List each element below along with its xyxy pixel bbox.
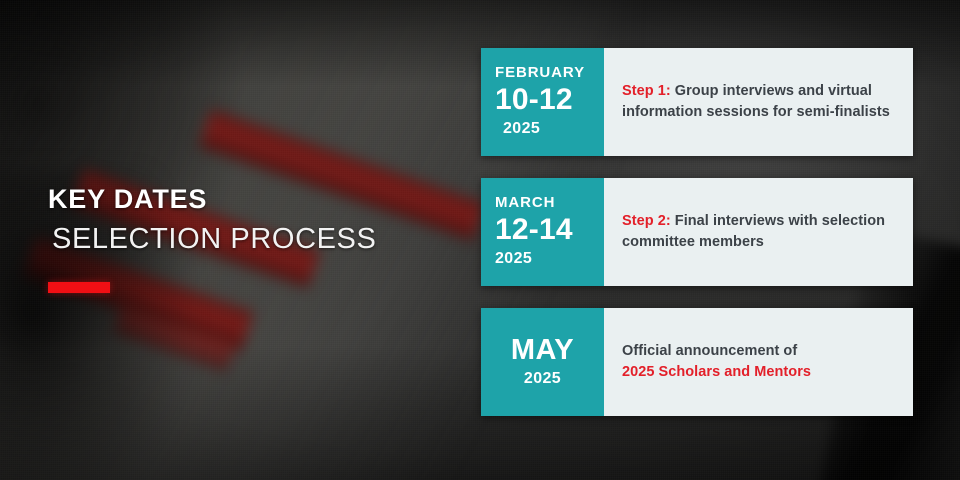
date-range: 12-14 — [495, 213, 604, 248]
date-year: 2025 — [503, 119, 604, 138]
date-year: 2025 — [495, 249, 604, 268]
card-description: Official announcement of 2025 Scholars a… — [622, 341, 811, 382]
date-range: 10-12 — [495, 83, 604, 118]
step-label: Step 1: — [622, 83, 671, 99]
timeline-card: MAY 2025 Official announcement of 2025 S… — [481, 308, 913, 416]
card-body-panel: Step 1: Group interviews and virtual inf… — [604, 48, 913, 156]
date-panel: FEBRUARY 10-12 2025 — [481, 48, 604, 156]
title-block: KEY DATES SELECTION PROCESS — [48, 186, 376, 254]
page-subtitle: SELECTION PROCESS — [52, 225, 376, 254]
timeline-card-list: FEBRUARY 10-12 2025 Step 1: Group interv… — [481, 48, 913, 416]
announcement-lead: Official announcement of — [622, 343, 797, 359]
accent-underline-bar — [48, 282, 110, 293]
date-month: FEBRUARY — [495, 65, 604, 82]
slide-canvas: KEY DATES SELECTION PROCESS FEBRUARY 10-… — [0, 0, 960, 480]
date-panel: MARCH 12-14 2025 — [481, 178, 604, 286]
page-title: KEY DATES — [48, 186, 376, 213]
date-month: MARCH — [495, 195, 604, 212]
card-body-panel: Step 2: Final interviews with selection … — [604, 178, 913, 286]
card-description: Step 1: Group interviews and virtual inf… — [622, 81, 897, 122]
card-body-panel: Official announcement of 2025 Scholars a… — [604, 308, 913, 416]
timeline-card: FEBRUARY 10-12 2025 Step 1: Group interv… — [481, 48, 913, 156]
announcement-highlight: 2025 Scholars and Mentors — [622, 364, 811, 380]
step-label: Step 2: — [622, 213, 671, 229]
timeline-card: MARCH 12-14 2025 Step 2: Final interview… — [481, 178, 913, 286]
date-year: 2025 — [524, 369, 561, 388]
date-month: MAY — [511, 335, 574, 367]
date-panel: MAY 2025 — [481, 308, 604, 416]
card-description: Step 2: Final interviews with selection … — [622, 211, 897, 252]
